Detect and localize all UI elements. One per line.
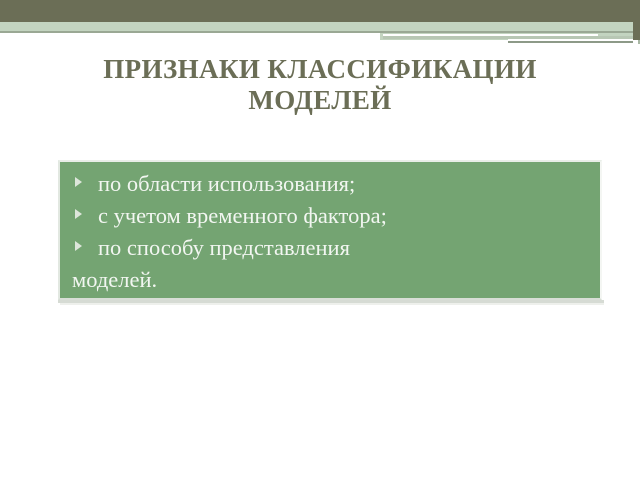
list-item-continuation: моделей.	[72, 264, 596, 296]
list-item: с учетом временного фактора;	[72, 200, 596, 232]
content-box: по области использования; с учетом време…	[58, 160, 602, 300]
slide-title: ПРИЗНАКИ КЛАССИФИКАЦИИ МОДЕЛЕЙ	[30, 54, 610, 116]
header-right-notch	[633, 0, 640, 40]
list-item-label: по области использования;	[98, 171, 355, 196]
bullet-list: по области использования; с учетом време…	[72, 168, 596, 264]
triangle-bullet-icon	[75, 209, 82, 219]
slide-title-line-1: ПРИЗНАКИ КЛАССИФИКАЦИИ	[30, 54, 610, 85]
slide-title-line-2: МОДЕЛЕЙ	[30, 85, 610, 116]
list-item: по способу представления	[72, 232, 596, 264]
header-rule-dark-lower	[508, 41, 633, 43]
list-item: по области использования;	[72, 168, 596, 200]
list-item-label: по способу представления	[98, 235, 350, 260]
header-decoration	[0, 0, 640, 50]
triangle-bullet-icon	[75, 241, 82, 251]
list-item-label: с учетом временного фактора;	[98, 203, 387, 228]
header-dark-bar	[0, 0, 640, 22]
header-rule-primary	[0, 31, 633, 33]
slide-canvas: ПРИЗНАКИ КЛАССИФИКАЦИИ МОДЕЛЕЙ по област…	[0, 0, 640, 480]
triangle-bullet-icon	[75, 177, 82, 187]
content-box-shadow-soft	[60, 303, 604, 305]
